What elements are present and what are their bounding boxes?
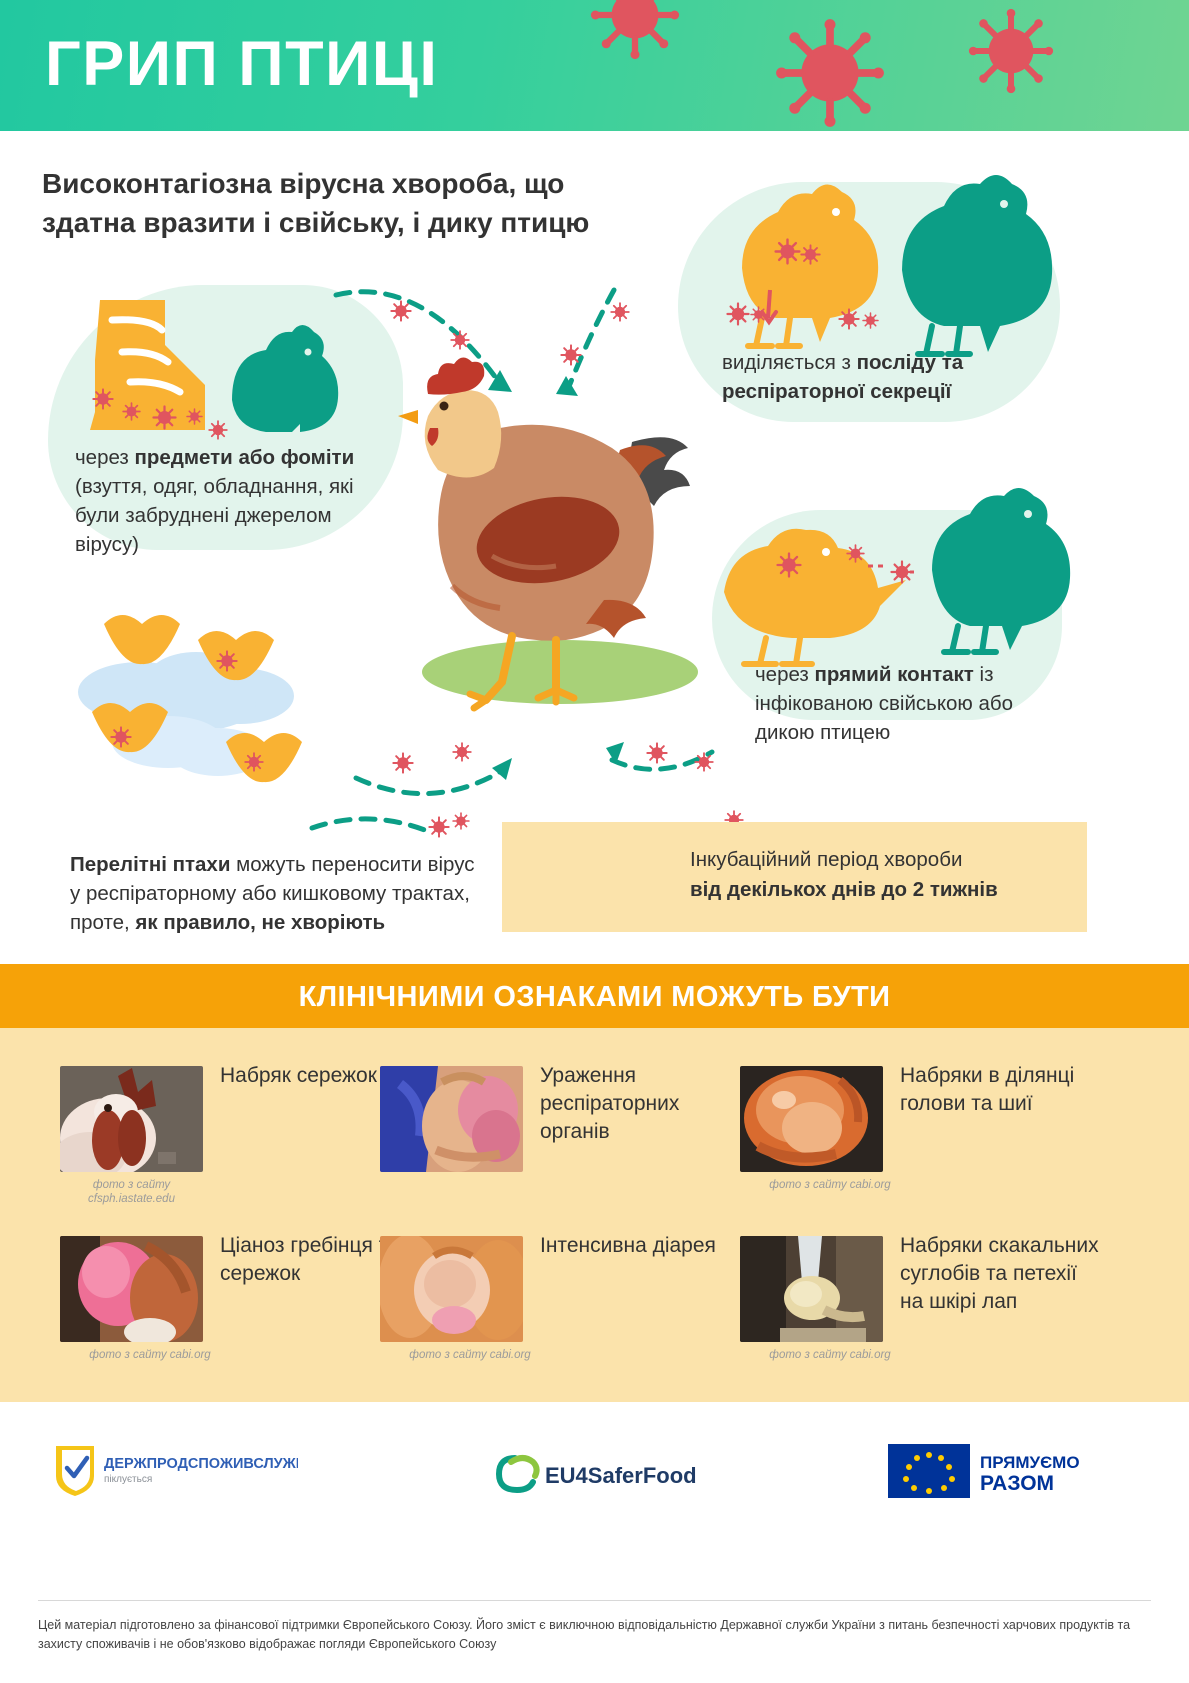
infographic-page: ГРИП ПТИЦІ (0, 0, 1189, 1683)
logo-derzhprodspozhyvsluzhba: ДЕРЖПРОДСПОЖИВСЛУЖБА піклується (48, 1440, 298, 1505)
logo-eu4saferfood: EU4SaferFood (493, 1448, 703, 1503)
disclaimer-text: Цей матеріал підготовлено за фінансової … (38, 1616, 1151, 1655)
sign-credit-line-1: фото з сайту cabi.org (380, 1348, 560, 1362)
sign-photo (380, 1236, 523, 1342)
sign-photo (740, 1066, 883, 1172)
sign-credit-line-1: фото з сайту cabi.org (60, 1348, 240, 1362)
fomites-pre: через (75, 446, 135, 469)
secretion-text: виділяється з посліду та респіраторної с… (722, 348, 1022, 406)
sign-photo (380, 1066, 523, 1172)
incubation-line-1: Інкубаційний період хвороби (690, 845, 1070, 875)
svg-text:РАЗОМ: РАЗОМ (980, 1472, 1054, 1495)
svg-text:піклується: піклується (104, 1474, 152, 1485)
migratory-bold-2: як правило, не хворіють (135, 911, 385, 934)
sign-photo (740, 1236, 883, 1342)
sign-credit: фото з сайту cabi.org (740, 1178, 920, 1192)
svg-text:EU4SaferFood: EU4SaferFood (545, 1463, 697, 1488)
clinical-signs-banner: КЛІНІЧНИМИ ОЗНАКАМИ МОЖУТЬ БУТИ (0, 964, 1189, 1028)
svg-text:ДЕРЖПРОДСПОЖИВСЛУЖБА: ДЕРЖПРОДСПОЖИВСЛУЖБА (104, 1456, 298, 1472)
secretion-pre: виділяється з (722, 351, 857, 374)
sign-credit-line-1: фото з сайту (60, 1178, 203, 1192)
drop-arrow (768, 290, 770, 318)
sign-credit: фото з сайту cabi.org (60, 1348, 240, 1362)
sign-credit-line-2: cfsph.iastate.edu (60, 1192, 203, 1206)
sign-credit: фото з сайту cabi.org (380, 1348, 560, 1362)
yellow-duck (724, 529, 906, 664)
sign-label: Ураження респіраторних органів (540, 1062, 740, 1146)
teal-hen-midright (932, 488, 1070, 652)
svg-text:ПРЯМУЄМО: ПРЯМУЄМО (980, 1453, 1080, 1472)
direct-bold: прямий контакт (815, 663, 974, 686)
fomites-bold: предмети або фоміти (135, 446, 355, 469)
migratory-bold-1: Перелітні птахи (70, 853, 230, 876)
logo-eu-pryamuyemo-razom: ПРЯМУЄМО РАЗОМ (888, 1440, 1103, 1507)
migratory-birds-text: Перелітні птахи можуть переносити вірус … (70, 850, 490, 937)
fomites-text: через предмети або фоміти (взуття, одяг,… (75, 443, 365, 559)
sign-credit-line-1: фото з сайту cabi.org (740, 1178, 920, 1192)
teal-chicken-left (232, 325, 338, 432)
sign-photo (60, 1236, 203, 1342)
sign-photo (60, 1066, 203, 1172)
direct-contact-text: через прямий контакт із інфікованою свій… (755, 660, 1045, 747)
fomites-post: (взуття, одяг, обладнання, які були забр… (75, 475, 354, 556)
boot-icon (90, 300, 205, 430)
sign-credit: фото з сайту cabi.org (740, 1348, 920, 1362)
sign-label: Набряки в ділянці голови та шиї (900, 1062, 1100, 1118)
clinical-signs-title: КЛІНІЧНИМИ ОЗНАКАМИ МОЖУТЬ БУТИ (0, 981, 1189, 1014)
incubation-line-2: від декількох днів до 2 тижнів (690, 875, 1070, 905)
sign-credit-line-1: фото з сайту cabi.org (740, 1348, 920, 1362)
yellow-hen-topright (742, 184, 878, 346)
sign-label: Набряки скакальних суглобів та петехії н… (900, 1232, 1100, 1316)
incubation-text: Інкубаційний період хвороби від декілько… (690, 845, 1070, 904)
sign-credit: фото з сайту cfsph.iastate.edu (60, 1178, 203, 1207)
direct-pre: через (755, 663, 815, 686)
sign-label: Інтенсивна діарея (540, 1232, 740, 1260)
footer-divider (38, 1600, 1151, 1601)
teal-hen-topright (902, 175, 1052, 354)
clinical-signs-section: Набряк сережок фото з сайту cfsph.iastat… (0, 1028, 1189, 1402)
